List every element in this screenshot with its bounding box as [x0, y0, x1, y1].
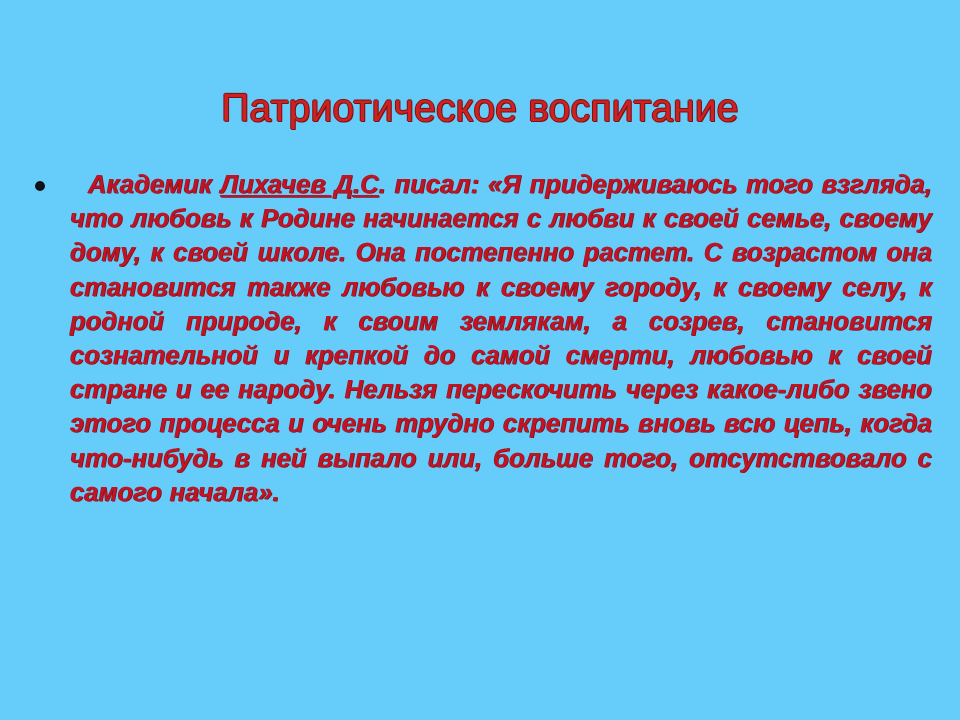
quote-lead-in: Академик: [88, 171, 221, 199]
list-item: Академик Лихачев Д.С. писал: «Я придержи…: [0, 168, 960, 510]
slide-body: Академик Лихачев Д.С. писал: «Я придержи…: [0, 168, 960, 638]
page-title: Патриотическое воспитание: [0, 86, 960, 132]
quotation-paragraph: Академик Лихачев Д.С. писал: «Я придержи…: [70, 168, 932, 510]
bullet-point-icon: [35, 181, 45, 191]
quote-body: . писал: «Я придерживаюсь того взгляда, …: [70, 171, 932, 507]
presentation-slide: Патриотическое воспитание Академик Лихач…: [0, 0, 960, 720]
author-name-underlined: Лихачев Д.С: [221, 171, 379, 199]
